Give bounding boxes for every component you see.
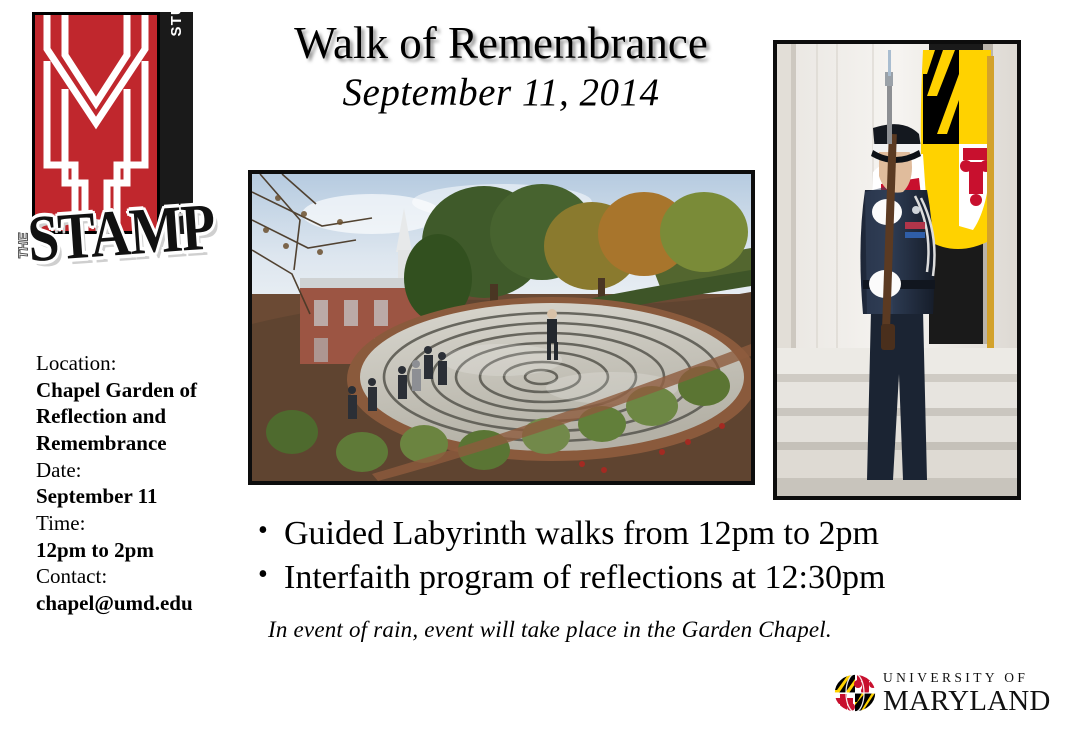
university-line-2: MARYLAND [883,687,1051,716]
university-wordmark: UNIVERSITY OF MARYLAND [883,670,1051,716]
list-item: • Interfaith program of reflections at 1… [258,556,1018,600]
rain-contingency-note: In event of rain, event will take place … [268,617,832,643]
location-value-line-3: Remembrance [36,430,241,457]
stamp-wordmark: STAMP [25,189,217,277]
labyrinth-garden-photo [248,170,755,485]
contact-label: Contact: [36,563,241,590]
title-block: Walk of Remembrance September 11, 2014 [246,20,756,118]
location-value-line-2: Reflection and [36,403,241,430]
date-value: September 11 [36,483,241,510]
location-value-line-1: Chapel Garden of [36,377,241,404]
bullet-item-text: Guided Labyrinth walks from 12pm to 2pm [284,512,879,556]
honor-guard-photo [773,40,1021,500]
university-line-1: UNIVERSITY OF [883,670,1051,686]
location-label: Location: [36,350,241,377]
time-value: 12pm to 2pm [36,537,241,564]
program-bullet-list: • Guided Labyrinth walks from 12pm to 2p… [258,512,1018,599]
time-label: Time: [36,510,241,537]
list-item: • Guided Labyrinth walks from 12pm to 2p… [258,512,1018,556]
stamp-logo: STUDENT INVOLVEMENT THE STAMP [8,6,208,296]
contact-value: chapel@umd.edu [36,590,241,617]
bullet-point-icon: • [258,512,284,550]
stamp-vertical-tagline: STUDENT INVOLVEMENT [160,0,193,45]
university-of-maryland-logo: UNIVERSITY OF MARYLAND [833,670,1048,718]
bullet-item-text: Interfaith program of reflections at 12:… [284,556,885,600]
stamp-wordmark-group: THE STAMP [8,202,208,292]
event-details: Location: Chapel Garden of Reflection an… [36,350,241,617]
maryland-flag-globe-icon [833,672,877,714]
page-title: Walk of Remembrance [246,20,756,67]
date-label: Date: [36,457,241,484]
bullet-point-icon: • [258,556,284,594]
page-subtitle: September 11, 2014 [246,69,756,118]
